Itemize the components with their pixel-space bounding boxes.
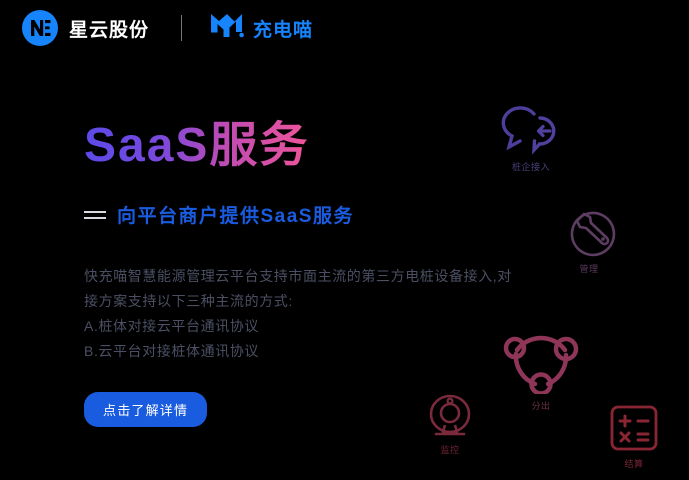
calculator-icon bbox=[609, 404, 659, 452]
subtitle-row: 向平台商户提供SaaS服务 bbox=[84, 201, 584, 228]
learn-more-button[interactable]: 点击了解详情 bbox=[84, 392, 207, 427]
brand-divider bbox=[181, 15, 182, 41]
page-header: 星云股份 充电喵 bbox=[0, 0, 689, 56]
brand-secondary[interactable]: 充电喵 bbox=[210, 13, 313, 43]
body-line: A.桩体对接云平台通讯协议 bbox=[84, 314, 584, 339]
body-line: B.云平台对接桩体通讯协议 bbox=[84, 339, 584, 364]
page-title: SaaS服务 bbox=[84, 118, 309, 173]
brand-secondary-name: 充电喵 bbox=[253, 15, 313, 42]
brand-primary-name: 星云股份 bbox=[69, 15, 149, 42]
decoration-settlement: 结算 bbox=[609, 404, 659, 470]
body-copy: 快充喵智慧能源管理云平台支持市面主流的第三方电桩设备接入,对 接方案支持以下三种… bbox=[84, 264, 584, 364]
hero-section: SaaS服务 向平台商户提供SaaS服务 快充喵智慧能源管理云平台支持市面主流的… bbox=[84, 118, 584, 427]
body-line: 快充喵智慧能源管理云平台支持市面主流的第三方电桩设备接入,对 bbox=[84, 264, 584, 289]
decoration-label: 结算 bbox=[624, 457, 643, 470]
menu-bars-icon bbox=[84, 211, 106, 219]
brand-primary[interactable]: 星云股份 bbox=[22, 10, 149, 46]
cat-face-icon bbox=[210, 13, 244, 43]
decoration-label: 监控 bbox=[440, 443, 459, 456]
body-line: 接方案支持以下三种主流的方式: bbox=[84, 289, 584, 314]
page-subtitle: 向平台商户提供SaaS服务 bbox=[117, 201, 354, 228]
ne-monogram-circle-icon bbox=[22, 10, 58, 46]
